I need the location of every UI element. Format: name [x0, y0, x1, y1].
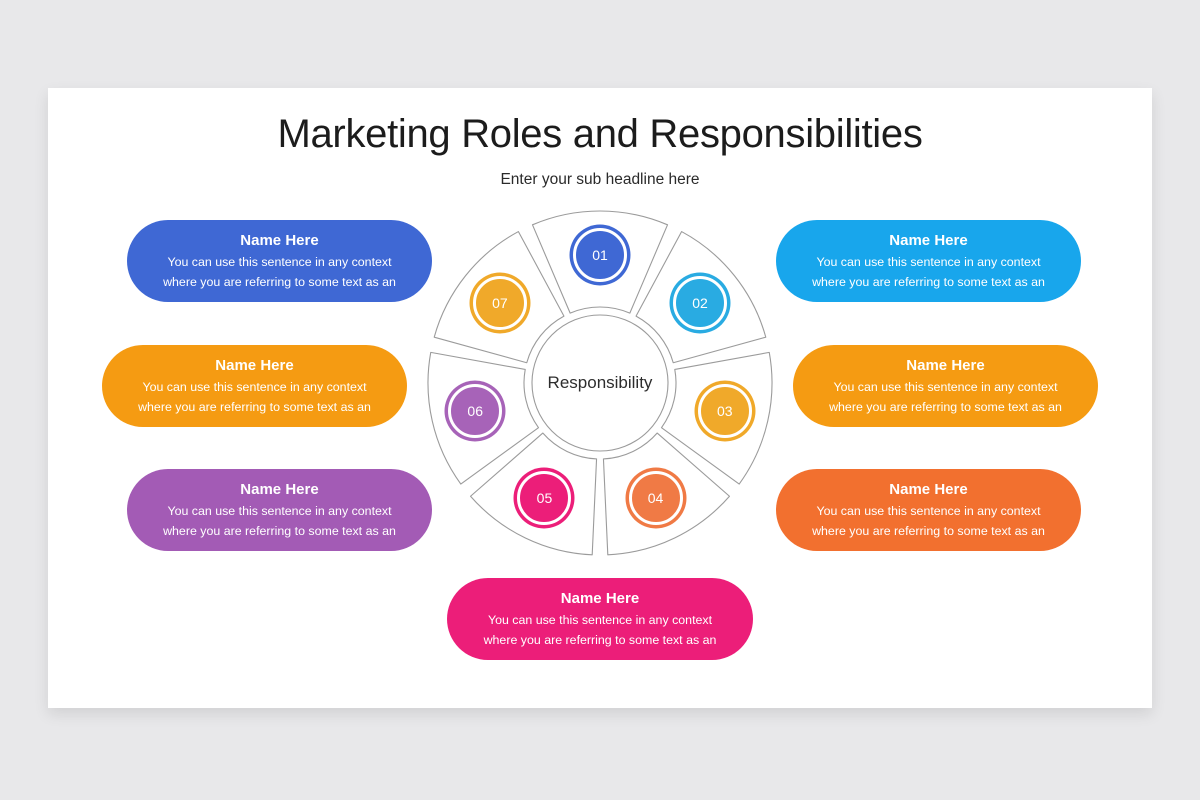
callout-01-name: Name Here	[127, 231, 432, 251]
callout-03-line1: You can use this sentence in any context	[793, 378, 1098, 398]
callout-05-name: Name Here	[447, 589, 753, 609]
wheel-node-05-label: 05	[537, 490, 553, 506]
screenshot-canvas: Marketing Roles and Responsibilities Ent…	[0, 0, 1200, 800]
wheel-hub	[532, 315, 668, 451]
callout-07-line2: where you are referring to some text as …	[102, 398, 407, 418]
callout-06-line2: where you are referring to some text as …	[127, 522, 432, 542]
wheel-node-02-label: 02	[692, 295, 708, 311]
callout-06[interactable]: Name Here You can use this sentence in a…	[127, 469, 432, 551]
callout-07[interactable]: Name Here You can use this sentence in a…	[102, 345, 407, 427]
callout-05-line2: where you are referring to some text as …	[447, 631, 753, 651]
callout-01-line1: You can use this sentence in any context	[127, 253, 432, 273]
slide-card: Marketing Roles and Responsibilities Ent…	[48, 88, 1152, 708]
page-title: Marketing Roles and Responsibilities	[48, 112, 1152, 157]
wheel-node-03-label: 03	[717, 403, 733, 419]
callout-02[interactable]: Name Here You can use this sentence in a…	[776, 220, 1081, 302]
page-subtitle: Enter your sub headline here	[48, 171, 1152, 189]
callout-02-name: Name Here	[776, 231, 1081, 251]
wheel-node-07[interactable]: 07	[473, 276, 527, 330]
wheel-node-07-label: 07	[492, 295, 508, 311]
responsibility-wheel: Responsibility 01020304050607	[420, 203, 780, 563]
callout-03-line2: where you are referring to some text as …	[793, 398, 1098, 418]
wheel-node-01-label: 01	[592, 247, 608, 263]
callout-05-line1: You can use this sentence in any context	[447, 611, 753, 631]
callout-04-name: Name Here	[776, 480, 1081, 500]
wheel-node-04-label: 04	[648, 490, 664, 506]
callout-05[interactable]: Name Here You can use this sentence in a…	[447, 578, 753, 660]
callout-07-name: Name Here	[102, 356, 407, 376]
wheel-node-03[interactable]: 03	[698, 384, 752, 438]
callout-01-line2: where you are referring to some text as …	[127, 273, 432, 293]
callout-04-line2: where you are referring to some text as …	[776, 522, 1081, 542]
wheel-node-04[interactable]: 04	[629, 471, 683, 525]
callout-02-line2: where you are referring to some text as …	[776, 273, 1081, 293]
callout-02-line1: You can use this sentence in any context	[776, 253, 1081, 273]
callout-06-name: Name Here	[127, 480, 432, 500]
wheel-node-02[interactable]: 02	[673, 276, 727, 330]
callout-03-name: Name Here	[793, 356, 1098, 376]
callout-04-line1: You can use this sentence in any context	[776, 502, 1081, 522]
callout-07-line1: You can use this sentence in any context	[102, 378, 407, 398]
wheel-node-01[interactable]: 01	[573, 228, 627, 282]
callout-01[interactable]: Name Here You can use this sentence in a…	[127, 220, 432, 302]
callout-06-line1: You can use this sentence in any context	[127, 502, 432, 522]
wheel-node-06-label: 06	[467, 403, 483, 419]
callout-03[interactable]: Name Here You can use this sentence in a…	[793, 345, 1098, 427]
callout-04[interactable]: Name Here You can use this sentence in a…	[776, 469, 1081, 551]
